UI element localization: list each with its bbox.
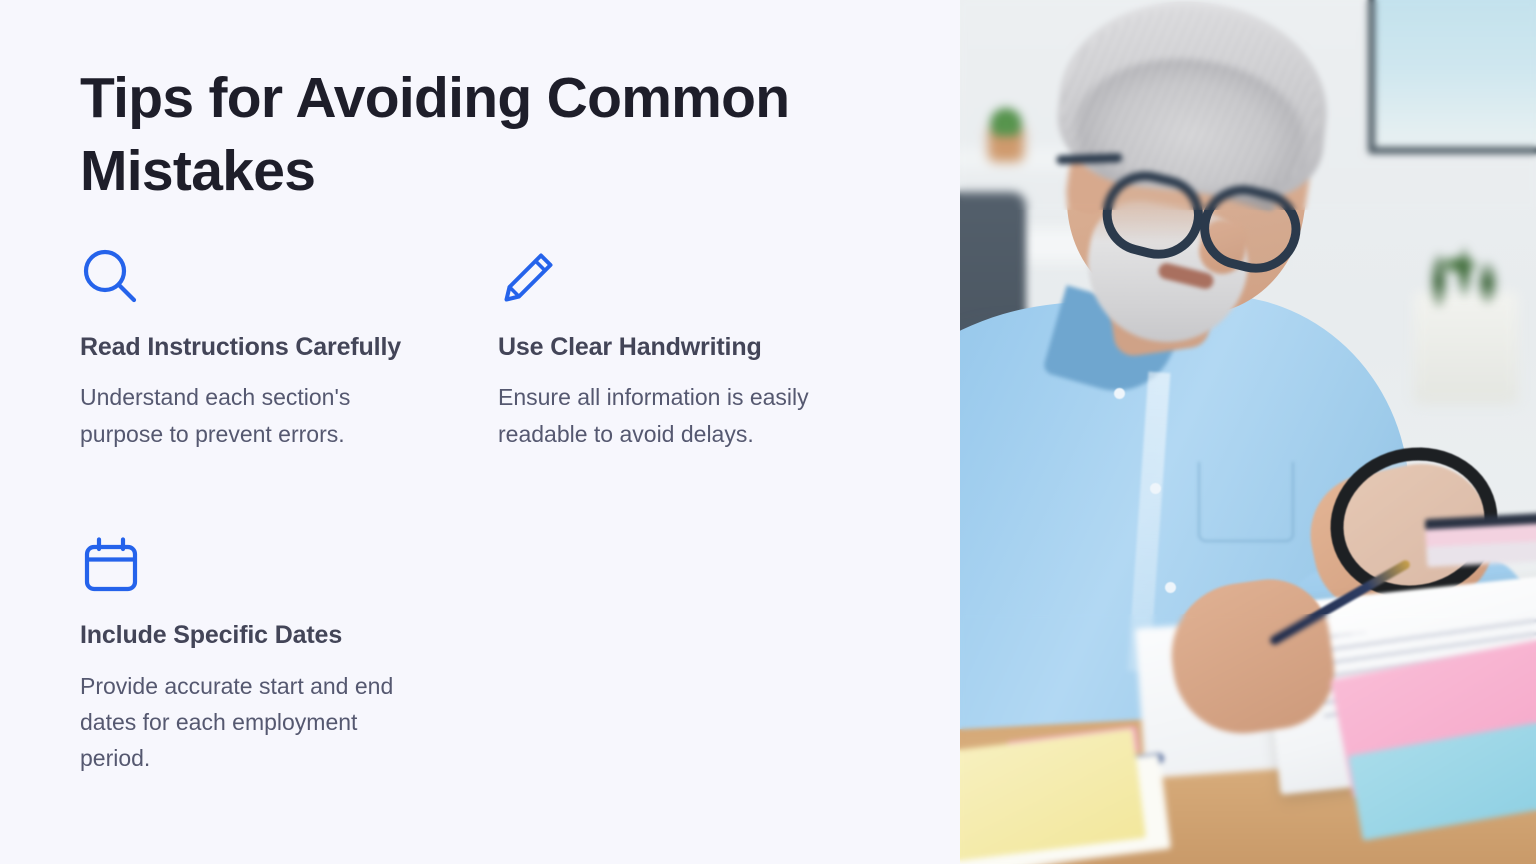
slide: Tips for Avoiding Common Mistakes Read I… <box>0 0 1536 864</box>
feature-title: Read Instructions Carefully <box>80 330 410 366</box>
calendar-icon <box>80 534 142 596</box>
shirt-button <box>1150 483 1161 494</box>
feature-description: Understand each section's purpose to pre… <box>80 379 425 452</box>
eyeglass-lens-right <box>1191 176 1308 282</box>
potted-plant-pot <box>1414 292 1518 404</box>
eyeglass-temple <box>1056 153 1122 164</box>
feature-description: Ensure all information is easily readabl… <box>498 379 843 452</box>
shelf-plant-leaves <box>990 106 1022 136</box>
book-stack <box>1425 513 1536 567</box>
potted-plant-leaves <box>1404 218 1520 308</box>
magnifier-icon <box>80 246 142 308</box>
framed-picture <box>1368 0 1536 154</box>
page-title: Tips for Avoiding Common Mistakes <box>80 62 870 208</box>
content-panel: Tips for Avoiding Common Mistakes Read I… <box>0 0 960 864</box>
feature-item-read-instructions: Read Instructions Carefully Understand e… <box>80 246 498 452</box>
pencil-icon <box>498 246 560 308</box>
hero-photo <box>960 0 1536 864</box>
photo-scene <box>960 0 1536 864</box>
shirt-button <box>1165 582 1176 593</box>
feature-list: Read Instructions Carefully Understand e… <box>80 246 890 777</box>
shirt-button <box>1114 388 1125 399</box>
feature-item-clear-handwriting: Use Clear Handwriting Ensure all informa… <box>498 246 916 452</box>
feature-title: Use Clear Handwriting <box>498 330 828 366</box>
shirt-pocket <box>1198 462 1294 542</box>
eyeglass-lens-left <box>1094 162 1211 268</box>
feature-description: Provide accurate start and end dates for… <box>80 668 425 777</box>
feature-title: Include Specific Dates <box>80 618 410 654</box>
feature-item-specific-dates: Include Specific Dates Provide accurate … <box>80 452 498 776</box>
